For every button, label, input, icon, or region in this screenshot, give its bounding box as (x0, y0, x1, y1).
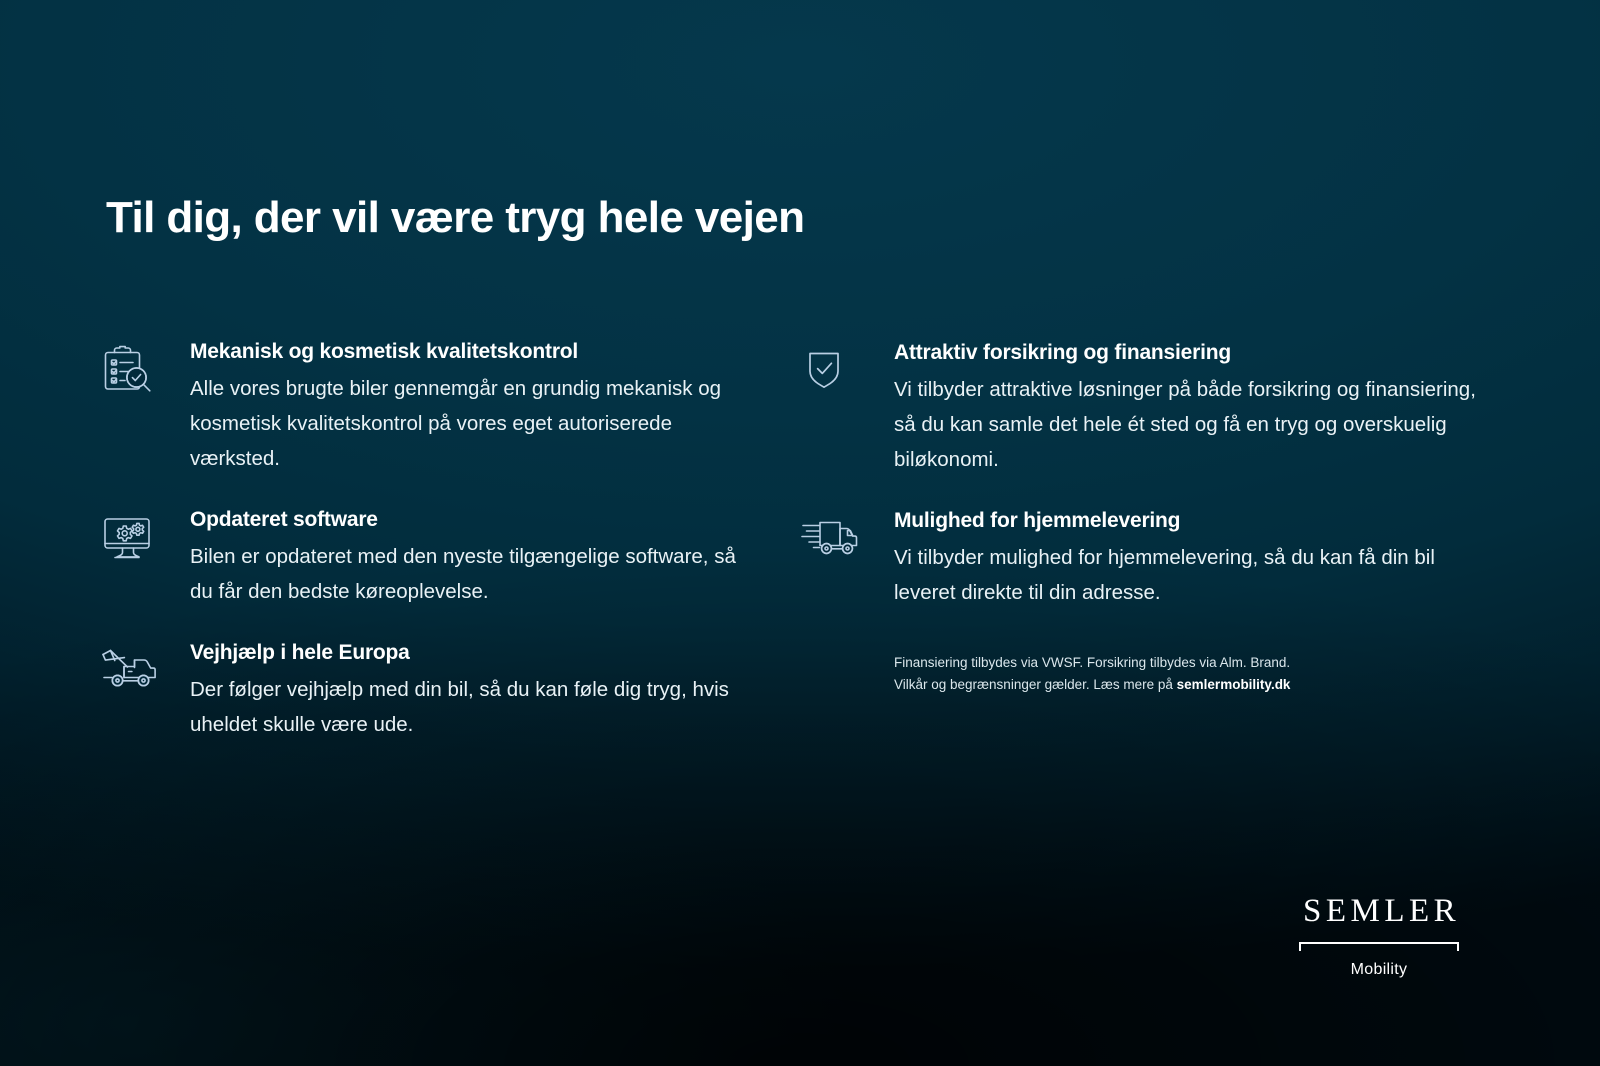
fine-print-line-2-text: Vilkår og begrænsninger gælder. Læs mere… (894, 677, 1177, 692)
fine-print-line-2: Vilkår og begrænsninger gælder. Læs mere… (894, 674, 1480, 696)
feature-title: Opdateret software (190, 508, 760, 532)
feature-title: Vejhjælp i hele Europa (190, 641, 760, 665)
delivery-truck-icon (800, 509, 862, 565)
slide-content: Til dig, der vil være tryg hele vejen (0, 0, 1600, 1066)
feature-item-roadside-assistance: Vejhjælp i hele Europa Der følger vejhjæ… (100, 641, 760, 742)
fine-print-line-1: Finansiering tilbydes via VWSF. Forsikri… (894, 652, 1480, 674)
feature-item-home-delivery: Mulighed for hjemmelevering Vi tilbyder … (800, 509, 1480, 610)
monitor-gears-icon (100, 508, 162, 564)
fine-print: Finansiering tilbydes via VWSF. Forsikri… (894, 652, 1480, 696)
feature-text: Mekanisk og kosmetisk kvalitetskontrol A… (162, 340, 760, 476)
semlermobility-link[interactable]: semlermobility.dk (1177, 677, 1291, 692)
feature-body: Vi tilbyder mulighed for hjemmelevering,… (894, 540, 1480, 610)
feature-title: Mulighed for hjemmelevering (894, 509, 1480, 533)
clipboard-checklist-magnifier-icon (100, 340, 162, 396)
page-title: Til dig, der vil være tryg hele vejen (106, 193, 804, 243)
feature-column-right: Attraktiv forsikring og finansiering Vi … (800, 341, 1480, 696)
shield-check-icon (800, 341, 862, 397)
feature-body: Bilen er opdateret med den nyeste tilgæn… (190, 539, 760, 609)
feature-item-updated-software: Opdateret software Bilen er opdateret me… (100, 508, 760, 609)
feature-body: Vi tilbyder attraktive løsninger på både… (894, 372, 1480, 477)
feature-text: Opdateret software Bilen er opdateret me… (162, 508, 760, 609)
feature-item-insurance-financing: Attraktiv forsikring og finansiering Vi … (800, 341, 1480, 477)
feature-text: Mulighed for hjemmelevering Vi tilbyder … (862, 509, 1480, 610)
logo-subtitle: Mobility (1299, 961, 1459, 979)
tow-truck-icon (100, 641, 162, 697)
feature-item-quality-control: Mekanisk og kosmetisk kvalitetskontrol A… (100, 340, 760, 476)
feature-column-left: Mekanisk og kosmetisk kvalitetskontrol A… (100, 340, 760, 742)
feature-title: Mekanisk og kosmetisk kvalitetskontrol (190, 340, 760, 364)
feature-title: Attraktiv forsikring og finansiering (894, 341, 1480, 365)
feature-body: Der følger vejhjælp med din bil, så du k… (190, 672, 760, 742)
feature-text: Vejhjælp i hele Europa Der følger vejhjæ… (162, 641, 760, 742)
feature-text: Attraktiv forsikring og finansiering Vi … (862, 341, 1480, 477)
logo-wordmark: SEMLER (1299, 895, 1459, 928)
feature-body: Alle vores brugte biler gennemgår en gru… (190, 371, 760, 476)
semler-mobility-logo: SEMLER Mobility (1299, 895, 1459, 979)
logo-divider (1299, 942, 1459, 951)
